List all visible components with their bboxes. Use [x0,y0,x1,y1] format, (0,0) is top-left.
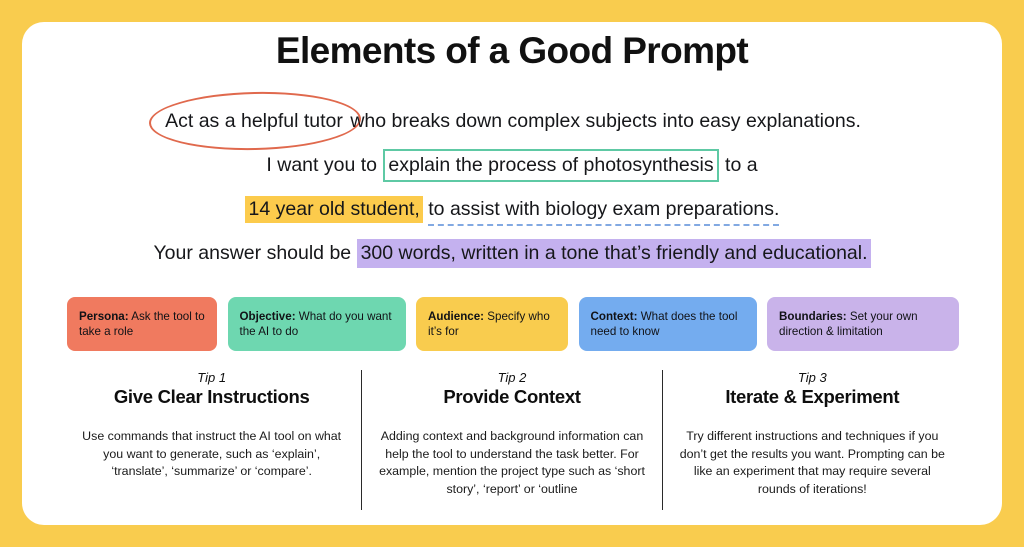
tip-1-body: Use commands that instruct the AI tool o… [78,428,345,481]
prompt-line-2-before: I want you to [266,154,382,176]
tip-2-number: Tip 2 [378,370,645,385]
element-card-boundaries-text: Boundaries: Set your own direction & lim… [779,309,948,340]
tips-row: Tip 1 Give Clear Instructions Use comman… [62,370,962,510]
tip-1-number: Tip 1 [78,370,345,385]
element-card-objective[interactable]: Objective: What do you want the AI to do [228,297,406,351]
prompt-line-1-circled-text: Act as a helpful tutor [165,110,343,132]
element-card-objective-label: Objective: [240,310,296,323]
infographic-card: Elements of a Good Prompt Act as a helpf… [22,22,1002,525]
prompt-line-3: 14 year old student, to assist with biol… [22,192,1002,226]
page-title: Elements of a Good Prompt [22,30,1002,72]
persona-annotation-ellipse: Act as a helpful tutor [163,104,345,138]
element-card-context-label: Context: [591,310,638,323]
element-card-persona[interactable]: Persona: Ask the tool to take a role [67,297,217,351]
tip-1: Tip 1 Give Clear Instructions Use comman… [62,370,361,510]
prompt-line-3-space [423,198,428,220]
audience-annotation-highlight: 14 year old student, [245,196,423,223]
prompt-line-1-rest: who breaks down complex subjects into ea… [345,110,861,132]
element-card-audience-text: Audience: Specify who it’s for [428,309,557,340]
element-card-audience[interactable]: Audience: Specify who it’s for [416,297,568,351]
prompt-line-1: Act as a helpful tutor who breaks down c… [22,104,1002,138]
element-card-objective-text: Objective: What do you want the AI to do [240,309,395,340]
prompt-example-block: Act as a helpful tutor who breaks down c… [22,104,1002,280]
tip-3: Tip 3 Iterate & Experiment Try different… [662,370,962,510]
tip-2: Tip 2 Provide Context Adding context and… [361,370,661,510]
element-card-boundaries-label: Boundaries: [779,310,847,323]
prompt-line-2-after: to a [720,154,758,176]
prompt-line-4: Your answer should be 300 words, written… [22,236,1002,270]
tip-2-body: Adding context and background informatio… [378,428,645,498]
tip-3-body: Try different instructions and technique… [679,428,946,498]
element-card-persona-text: Persona: Ask the tool to take a role [79,309,206,340]
boundaries-annotation-highlight: 300 words, written in a tone that’s frie… [357,239,871,268]
element-card-audience-label: Audience: [428,310,484,323]
prompt-line-2: I want you to explain the process of pho… [22,148,1002,182]
element-card-context-text: Context: What does the tool need to know [591,309,746,340]
context-annotation-dashed-underline: to assist with biology exam preparations… [428,198,779,226]
objective-annotation-box: explain the process of photosynthesis [383,149,718,182]
element-card-persona-label: Persona: [79,310,129,323]
tip-2-heading: Provide Context [378,386,645,408]
element-card-context[interactable]: Context: What does the tool need to know [579,297,757,351]
tip-1-heading: Give Clear Instructions [78,386,345,408]
element-cards-row: Persona: Ask the tool to take a role Obj… [67,297,959,351]
tip-3-number: Tip 3 [679,370,946,385]
prompt-line-4-before: Your answer should be [153,242,356,264]
element-card-boundaries[interactable]: Boundaries: Set your own direction & lim… [767,297,959,351]
tip-3-heading: Iterate & Experiment [679,386,946,408]
